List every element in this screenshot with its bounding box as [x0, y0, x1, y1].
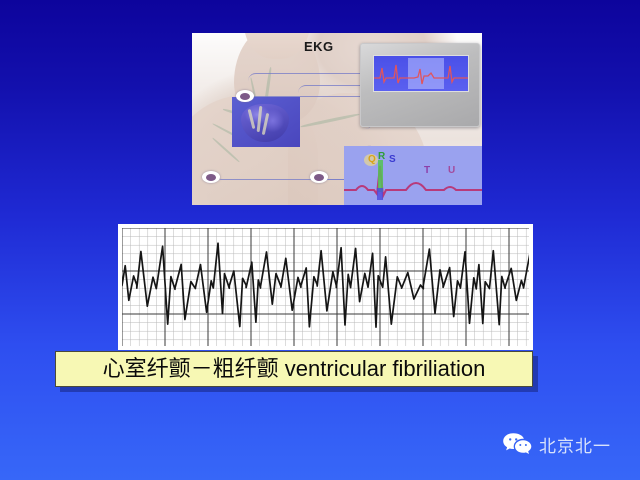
electrode-pad: [202, 171, 220, 183]
slide-canvas: EKG Q R S T U: [0, 0, 640, 480]
monitor-trace-icon: [374, 56, 468, 91]
ecg-wave-detail-panel: Q R S T U: [344, 146, 482, 205]
monitor-screen: [373, 55, 469, 92]
heart-illustration: [232, 97, 300, 147]
ecg-graph-paper: [122, 228, 529, 346]
wave-label-t: T: [424, 165, 430, 176]
ekg-label: EKG: [304, 39, 334, 54]
watermark-text: 北京北一: [539, 432, 611, 457]
caption-text: 心室纤颤－粗纤颤 ventricular fibriliation: [103, 358, 486, 380]
wave-label-u: U: [448, 165, 455, 176]
wave-label-r: R: [378, 151, 385, 162]
caption-box: 心室纤颤－粗纤颤 ventricular fibriliation: [55, 351, 533, 387]
ecg-rhythm-strip-panel: [118, 224, 533, 350]
ventricular-fibrillation-trace: [122, 243, 529, 327]
ecg-monitor-device: [360, 43, 480, 127]
electrode-pad: [310, 171, 328, 183]
detail-trace-icon: [344, 146, 482, 205]
wave-label-q: Q: [368, 154, 376, 165]
ecg-illustration-panel: EKG Q R S T U: [192, 33, 482, 205]
watermark: 北京北一: [502, 432, 611, 457]
wave-label-s: S: [389, 154, 396, 165]
electrode-pad: [236, 90, 254, 102]
wechat-icon: [502, 432, 532, 457]
